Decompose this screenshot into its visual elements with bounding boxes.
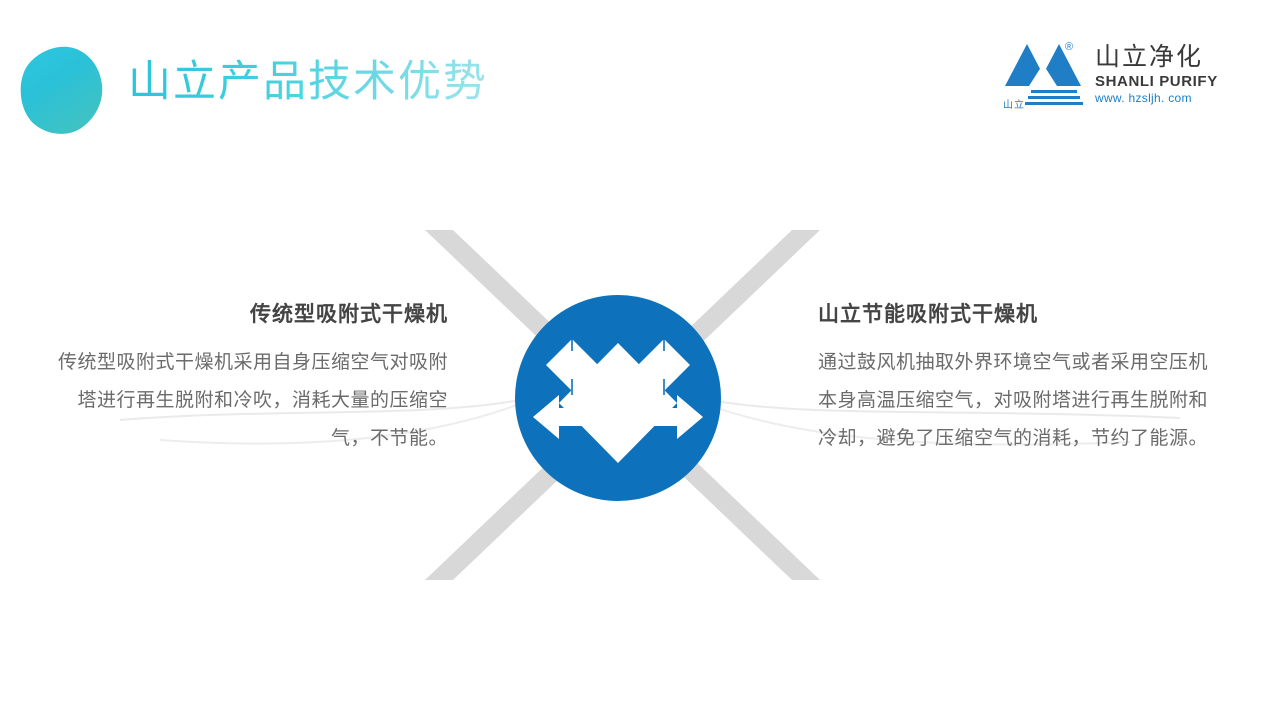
brand-name-en: SHANLI PURIFY — [1095, 73, 1220, 91]
page-title: 山立产品技术优势 — [128, 58, 488, 108]
column-energy-saving: 山立节能吸附式干燥机 通过鼓风机抽取外界环境空气或者采用空压机本身高温压缩空气，… — [818, 300, 1218, 458]
brand-name-cn: 山立净化 — [1095, 43, 1220, 73]
column-energy-saving-body: 通过鼓风机抽取外界环境空气或者采用空压机本身高温压缩空气，对吸附塔进行再生脱附和… — [818, 344, 1218, 458]
logo-mark-caption: 山立 — [1003, 96, 1025, 111]
column-traditional-heading: 传统型吸附式干燥机 — [52, 300, 448, 330]
slide-canvas: 山立产品技术优势 ® 山立 山立净化 SHANLI PURIFY www. hz… — [0, 0, 1280, 720]
slide-header: 山立产品技术优势 ® 山立 山立净化 SHANLI PURIFY www. hz… — [0, 0, 1280, 150]
column-traditional: 传统型吸附式干燥机 传统型吸附式干燥机采用自身压缩空气对吸附塔进行再生脱附和冷吹… — [52, 300, 448, 458]
brand-wordmark: 山立净化 SHANLI PURIFY www. hzsljh. com — [1095, 43, 1220, 106]
center-icon-circle — [515, 295, 721, 501]
blob-decoration-icon — [18, 45, 104, 135]
registered-trademark-symbol: ® — [1065, 42, 1073, 53]
comparison-diagram: 传统型吸附式干燥机 传统型吸附式干燥机采用自身压缩空气对吸附塔进行再生脱附和冷吹… — [0, 150, 1280, 720]
column-traditional-body: 传统型吸附式干燥机采用自身压缩空气对吸附塔进行再生脱附和冷吹，消耗大量的压缩空气… — [52, 344, 448, 458]
brand-logo: ® 山立 山立净化 SHANLI PURIFY www. hzsljh. com — [1003, 40, 1218, 118]
exchange-diamond-arrows-icon — [515, 295, 721, 501]
column-energy-saving-heading: 山立节能吸附式干燥机 — [818, 300, 1218, 330]
brand-website: www. hzsljh. com — [1095, 91, 1220, 106]
